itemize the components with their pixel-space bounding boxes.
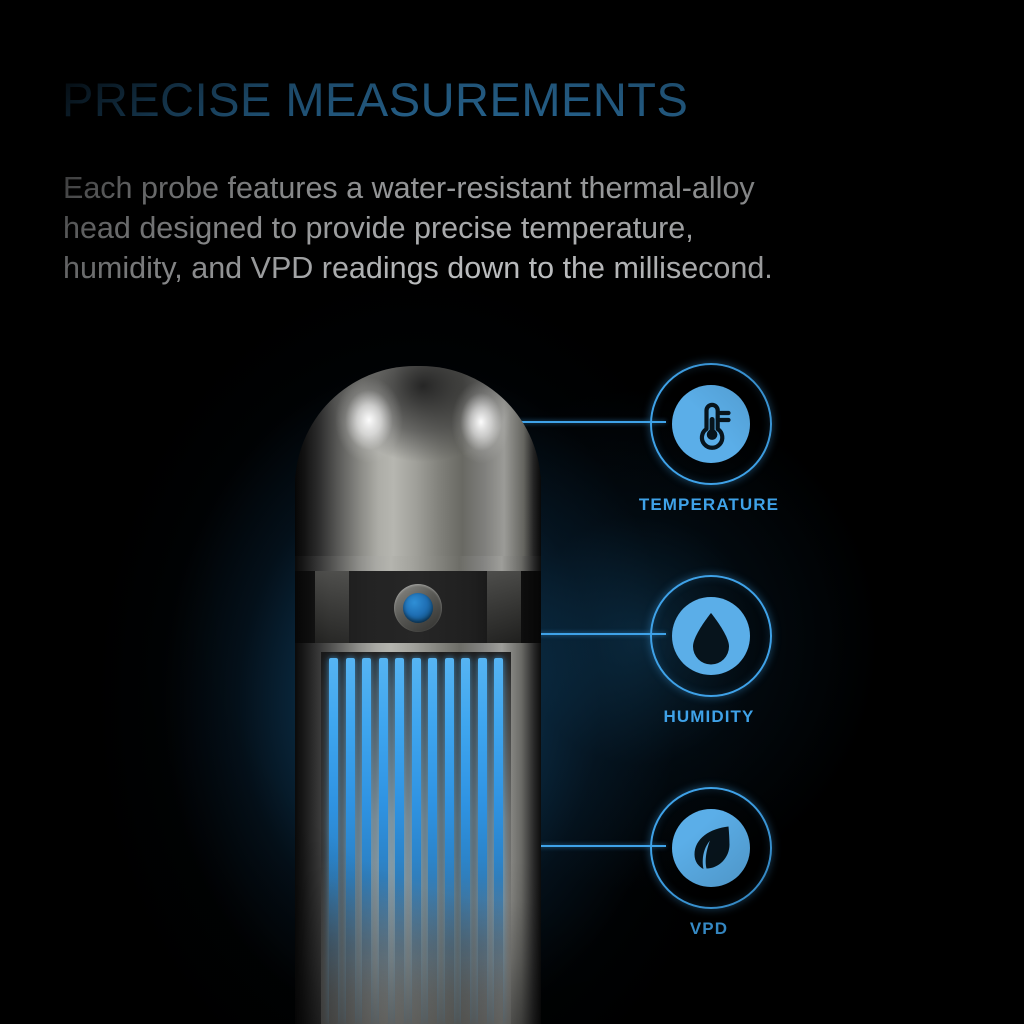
vent-slot: [412, 658, 421, 1024]
description-line-2: head designed to provide precise tempera…: [63, 208, 993, 248]
vent-slot: [362, 658, 371, 1024]
vent-slot: [329, 658, 338, 1024]
water-drop-icon: [672, 597, 750, 675]
page-title: PRECISE MEASUREMENTS: [62, 72, 688, 127]
vent-slot: [461, 658, 470, 1024]
probe-collar-tab-left: [315, 571, 349, 643]
description-line-3: humidity, and VPD readings down to the m…: [63, 248, 993, 288]
sensor-probe: [295, 366, 541, 1024]
sensor-lens: [403, 593, 433, 623]
vent-slot: [494, 658, 503, 1024]
vent-slot: [346, 658, 355, 1024]
vent-slot: [395, 658, 404, 1024]
page-description: Each probe features a water-resistant th…: [63, 168, 993, 288]
thermometer-icon: [672, 385, 750, 463]
probe-dome-head: [295, 366, 541, 556]
leaf-icon: [672, 809, 750, 887]
marketing-slide: PRECISE MEASUREMENTS Each probe features…: [0, 0, 1024, 1024]
callout-label-vpd: VPD: [589, 919, 829, 939]
probe-collar-tab-right: [487, 571, 521, 643]
probe-vent-housing: [321, 652, 511, 1024]
probe-vent-slots: [329, 658, 503, 1024]
vent-slot: [379, 658, 388, 1024]
vent-slot: [428, 658, 437, 1024]
vent-slot: [445, 658, 454, 1024]
callout-label-humidity: HUMIDITY: [589, 707, 829, 727]
description-line-1: Each probe features a water-resistant th…: [63, 168, 993, 208]
callout-label-temperature: TEMPERATURE: [589, 495, 829, 515]
vent-slot: [478, 658, 487, 1024]
